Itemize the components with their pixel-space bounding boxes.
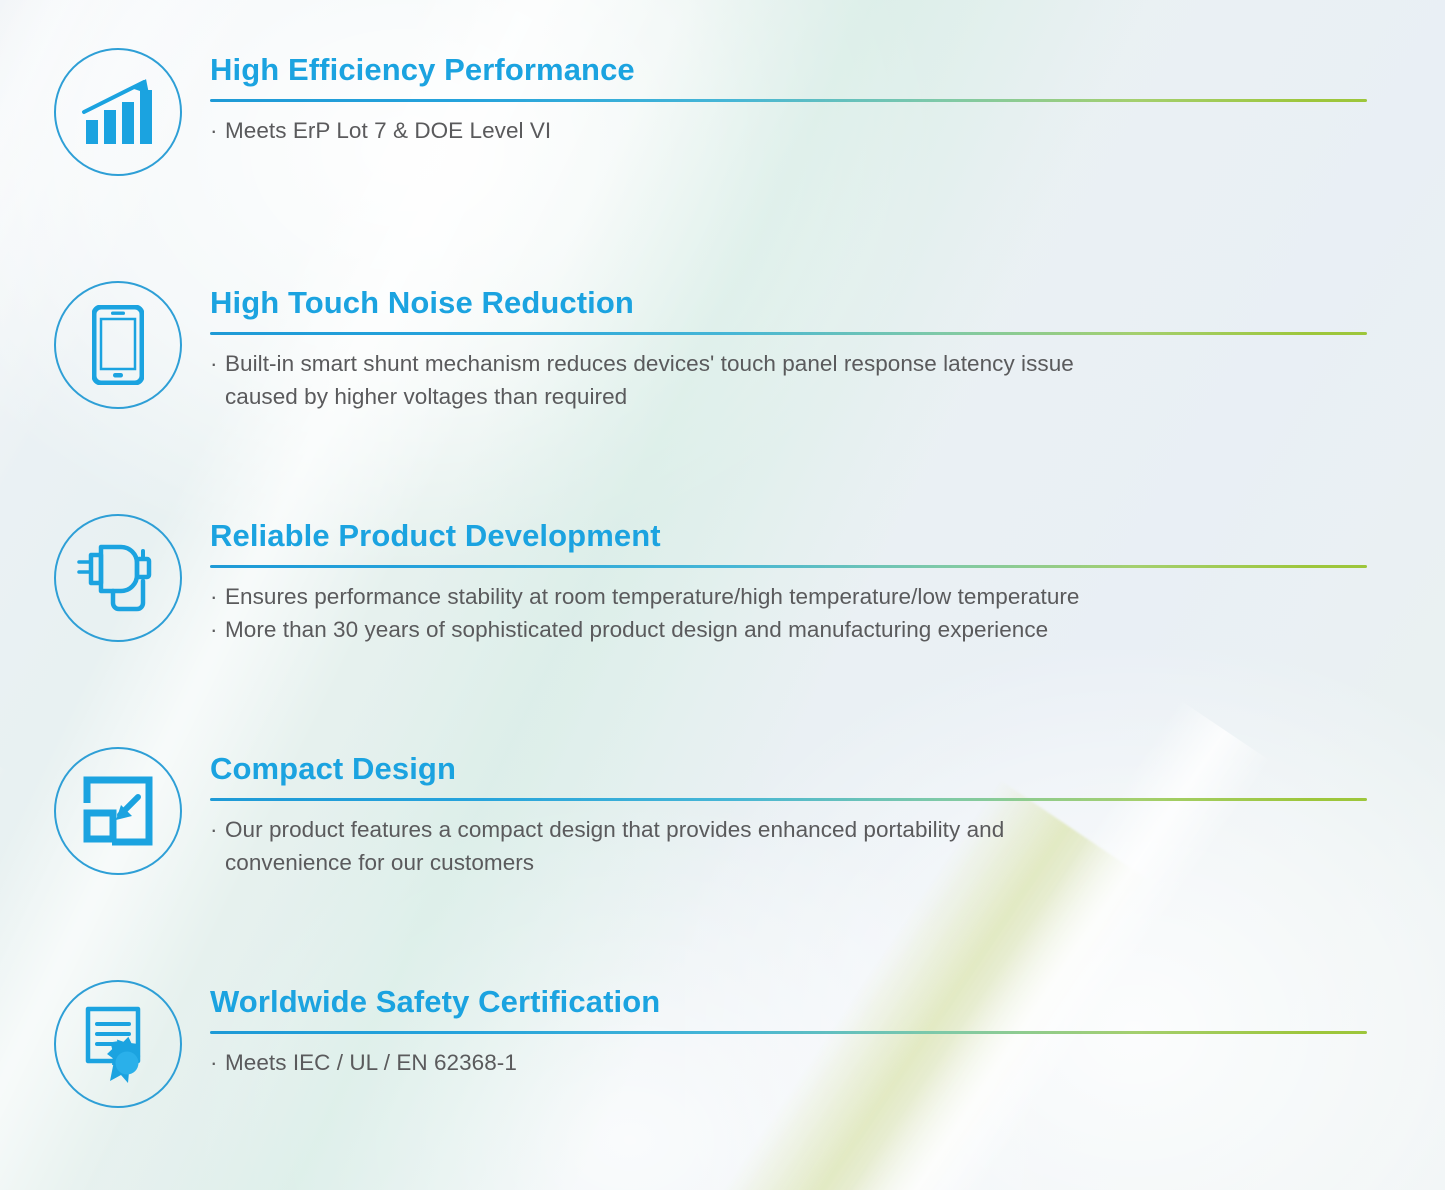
- feature-bullet-text: Meets ErP Lot 7 & DOE Level VI: [225, 115, 551, 148]
- feature-bullet-line: · Ensures performance stability at room …: [210, 581, 1370, 614]
- feature-text-block: High Efficiency Performance · Meets ErP …: [210, 54, 1370, 148]
- feature-text-block: Worldwide Safety Certification · Meets I…: [210, 986, 1370, 1080]
- feature-continuation-line: caused by higher voltages than required: [210, 381, 1370, 414]
- feature-title: Compact Design: [210, 753, 1370, 784]
- feature-body: · Built-in smart shunt mechanism reduces…: [210, 348, 1370, 413]
- compact-resize-icon: [54, 747, 182, 875]
- feature-bullet-line: · Meets ErP Lot 7 & DOE Level VI: [210, 115, 1370, 148]
- feature-list: High Efficiency Performance · Meets ErP …: [0, 0, 1445, 1190]
- bullet-marker: ·: [210, 348, 225, 381]
- feature-divider: [210, 565, 1367, 568]
- feature-body: · Meets ErP Lot 7 & DOE Level VI: [210, 115, 1370, 148]
- feature-body: · Our product features a compact design …: [210, 814, 1370, 879]
- feature-bullet-text: convenience for our customers: [225, 847, 534, 880]
- feature-bullet-text: Our product features a compact design th…: [225, 814, 1004, 847]
- feature-bullet-text: More than 30 years of sophisticated prod…: [225, 614, 1048, 647]
- feature-title: Worldwide Safety Certification: [210, 986, 1370, 1017]
- feature-bullet-line: · Our product features a compact design …: [210, 814, 1370, 847]
- feature-title: High Touch Noise Reduction: [210, 287, 1370, 318]
- feature-text-block: Compact Design · Our product features a …: [210, 753, 1370, 879]
- feature-divider: [210, 1031, 1367, 1034]
- bullet-marker: ·: [210, 814, 225, 847]
- certificate-award-icon: [54, 980, 182, 1108]
- feature-bullet-line: · Built-in smart shunt mechanism reduces…: [210, 348, 1370, 381]
- feature-text-block: Reliable Product Development · Ensures p…: [210, 520, 1370, 646]
- power-adapter-icon: [54, 514, 182, 642]
- feature-bullet-text: caused by higher voltages than required: [225, 381, 627, 414]
- bullet-marker: ·: [210, 115, 225, 148]
- smartphone-icon: [54, 281, 182, 409]
- feature-text-block: High Touch Noise Reduction · Built-in sm…: [210, 287, 1370, 413]
- feature-bullet-line: · More than 30 years of sophisticated pr…: [210, 614, 1370, 647]
- bullet-marker: ·: [210, 1047, 225, 1080]
- feature-body: · Ensures performance stability at room …: [210, 581, 1370, 646]
- bullet-marker: ·: [210, 581, 225, 614]
- bullet-marker: ·: [210, 614, 225, 647]
- feature-bullet-text: Ensures performance stability at room te…: [225, 581, 1080, 614]
- feature-title: Reliable Product Development: [210, 520, 1370, 551]
- feature-body: · Meets IEC / UL / EN 62368-1: [210, 1047, 1370, 1080]
- feature-continuation-line: convenience for our customers: [210, 847, 1370, 880]
- feature-title: High Efficiency Performance: [210, 54, 1370, 85]
- bar-chart-growth-icon: [54, 48, 182, 176]
- feature-bullet-line: · Meets IEC / UL / EN 62368-1: [210, 1047, 1370, 1080]
- feature-list-page: High Efficiency Performance · Meets ErP …: [0, 0, 1445, 1190]
- feature-bullet-text: Meets IEC / UL / EN 62368-1: [225, 1047, 517, 1080]
- feature-divider: [210, 798, 1367, 801]
- feature-bullet-text: Built-in smart shunt mechanism reduces d…: [225, 348, 1074, 381]
- feature-divider: [210, 99, 1367, 102]
- feature-divider: [210, 332, 1367, 335]
